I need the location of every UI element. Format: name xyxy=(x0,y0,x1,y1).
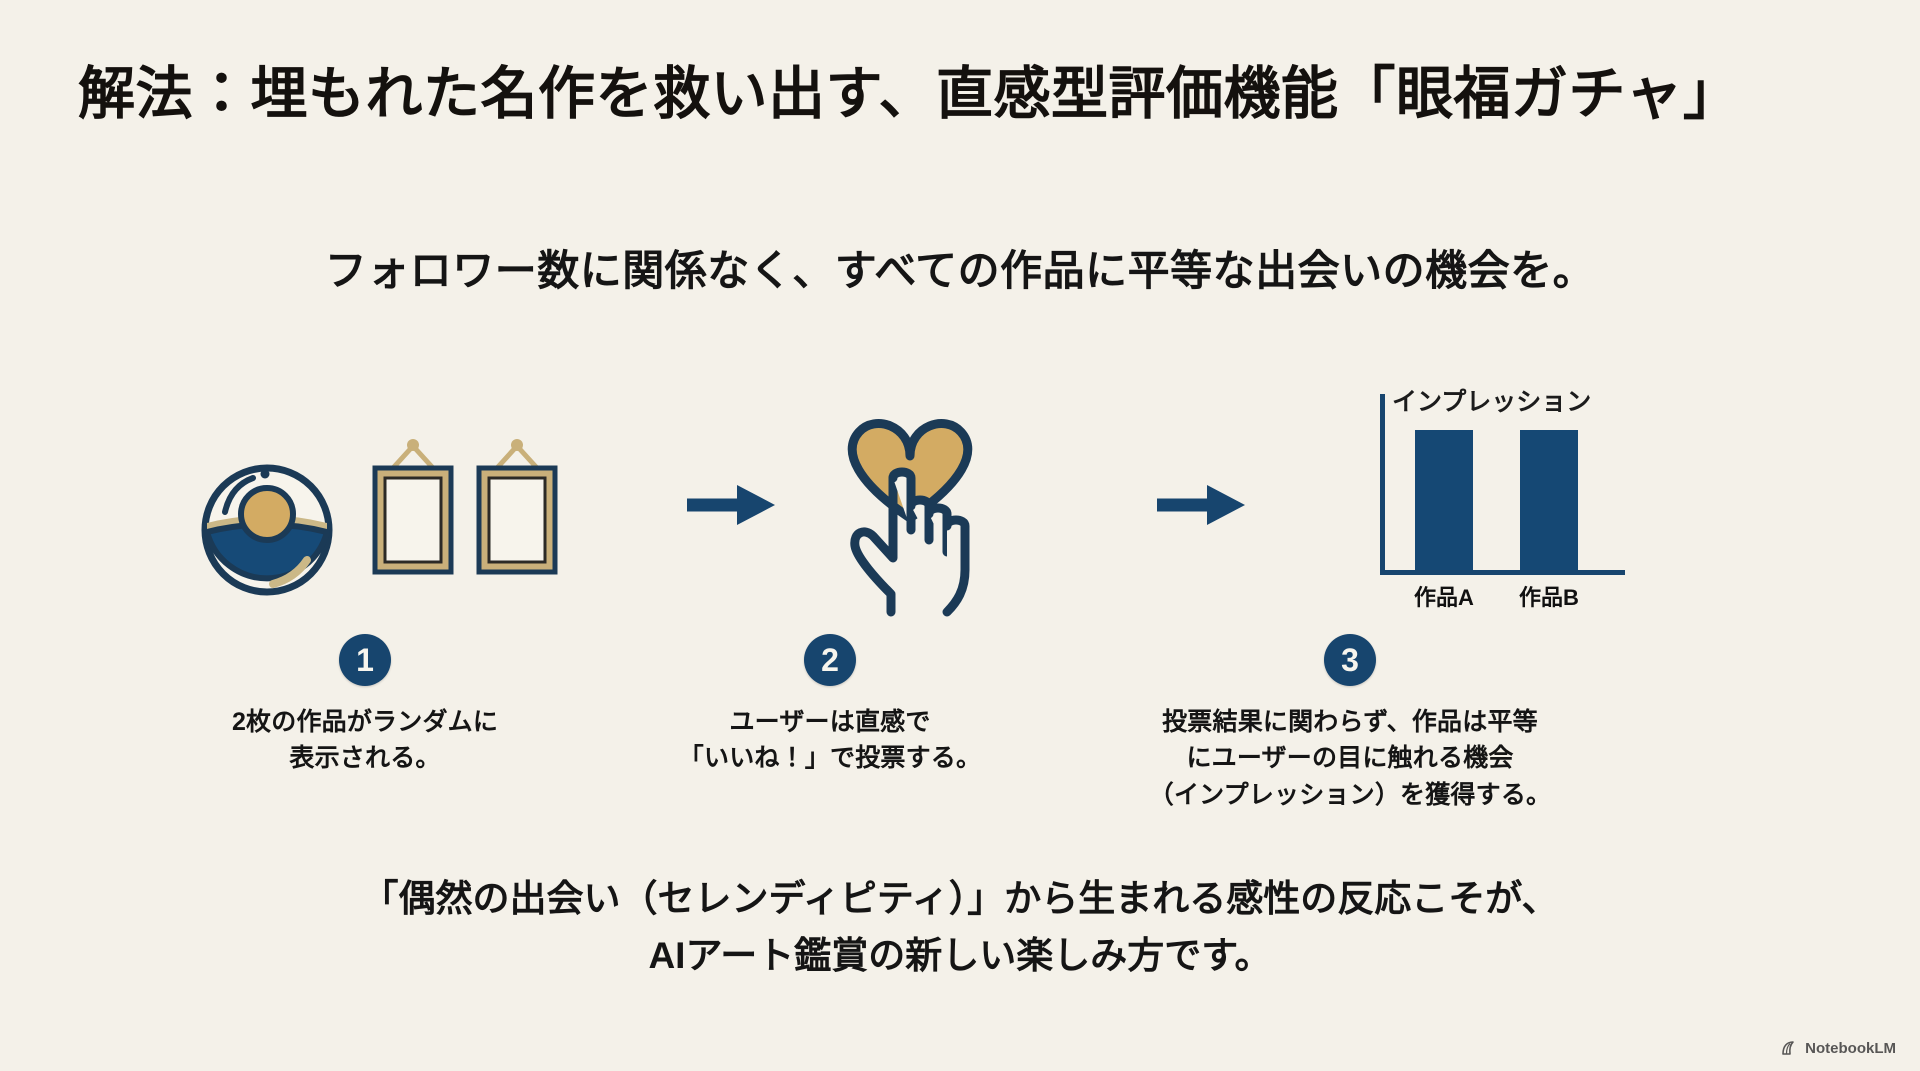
chart-bar-a xyxy=(1415,430,1473,570)
notebooklm-label: NotebookLM xyxy=(1805,1040,1896,1057)
chart-bar-b xyxy=(1520,430,1578,570)
arrow-right-icon-2 xyxy=(1155,480,1255,530)
step-column-1: 1 2枚の作品がランダムに 表示される。 xyxy=(150,634,580,777)
gacha-capsule-and-frames-icon xyxy=(195,420,625,620)
step-caption-1-line-1: 2枚の作品がランダムに xyxy=(150,704,580,740)
notebooklm-icon xyxy=(1781,1040,1798,1057)
slide-root: 解法：埋もれた名作を救い出す、直感型評価機能「眼福ガチャ」 フォロワー数に関係な… xyxy=(0,0,1920,1071)
step-badge-2: 2 xyxy=(804,634,856,686)
page-subtitle: フォロワー数に関係なく、すべての作品に平等な出会いの機会を。 xyxy=(0,237,1920,298)
chart-bar-label-a: 作品A xyxy=(1399,580,1489,612)
conclusion-line-1: 「偶然の出会い（セレンディピティ）」から生まれる感性の反応こそが、 xyxy=(0,870,1920,927)
artwork-frame-a-icon xyxy=(375,439,451,572)
flow-diagram: インプレッション 作品A 作品B xyxy=(120,360,1800,620)
impressions-bar-chart: インプレッション 作品A 作品B xyxy=(1370,380,1630,620)
chart-y-axis xyxy=(1380,394,1385,574)
chart-title: インプレッション xyxy=(1392,382,1591,418)
chart-x-axis xyxy=(1380,570,1625,575)
heart-tap-hand-icon xyxy=(815,380,1005,620)
flow-visual-step-3: インプレッション 作品A 作品B xyxy=(1290,360,1710,620)
step-column-2: 2 ユーザーは直感で 「いいね！」で投票する。 xyxy=(620,634,1040,777)
step-caption-3-line-2: にユーザーの目に触れる機会 xyxy=(1060,740,1640,776)
step-column-3: 3 投票結果に関わらず、作品は平等 にユーザーの目に触れる機会 （インプレッショ… xyxy=(1060,634,1640,813)
flow-visual-step-1 xyxy=(150,360,670,620)
conclusion-line-2: AIアート鑑賞の新しい楽しみ方です。 xyxy=(0,927,1920,984)
gacha-capsule-icon xyxy=(205,468,329,592)
flow-visual-step-2 xyxy=(760,360,1060,620)
step-caption-1-line-2: 表示される。 xyxy=(150,740,580,776)
page-title: 解法：埋もれた名作を救い出す、直感型評価機能「眼福ガチャ」 xyxy=(78,62,1740,128)
conclusion-text: 「偶然の出会い（セレンディピティ）」から生まれる感性の反応こそが、 AIアート鑑… xyxy=(0,870,1920,985)
artwork-frame-b-icon xyxy=(479,439,555,572)
step-caption-1: 2枚の作品がランダムに 表示される。 xyxy=(150,704,580,777)
step-badge-1: 1 xyxy=(339,634,391,686)
step-caption-2: ユーザーは直感で 「いいね！」で投票する。 xyxy=(620,704,1040,777)
step-caption-3-line-1: 投票結果に関わらず、作品は平等 xyxy=(1060,704,1640,740)
step-caption-3: 投票結果に関わらず、作品は平等 にユーザーの目に触れる機会 （インプレッション）… xyxy=(1060,704,1640,813)
step-list: 1 2枚の作品がランダムに 表示される。 2 ユーザーは直感で 「いいね！」で投… xyxy=(0,634,1920,834)
step-caption-3-line-3: （インプレッション）を獲得する。 xyxy=(1060,777,1640,813)
notebooklm-watermark: NotebookLM xyxy=(1781,1040,1896,1057)
step-caption-2-line-1: ユーザーは直感で xyxy=(620,704,1040,740)
step-badge-3: 3 xyxy=(1324,634,1376,686)
step-caption-2-line-2: 「いいね！」で投票する。 xyxy=(620,740,1040,776)
chart-bar-label-b: 作品B xyxy=(1504,580,1594,612)
